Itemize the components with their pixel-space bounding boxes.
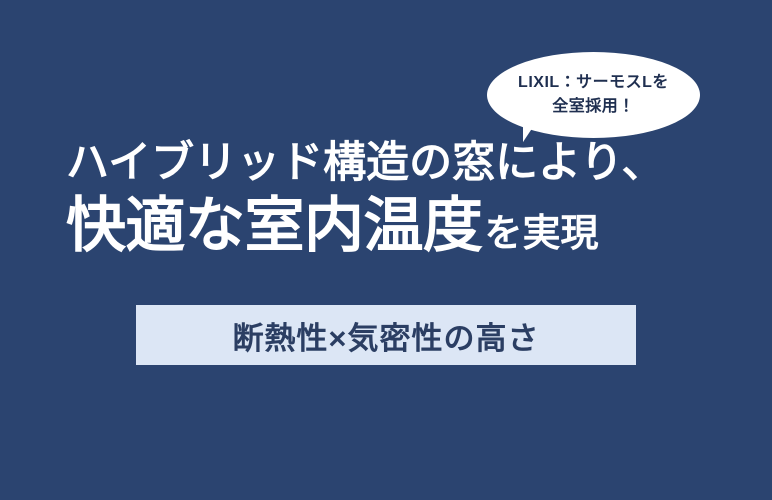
promo-banner: LIXIL：サーモスLを 全室採用！ ハイブリッド構造の窓により、 快適な室内温… [0,0,772,500]
headline-line-2: 快適な室内温度 を実現 [66,191,665,262]
subtitle-band-text: 断熱性×気密性の高さ [232,313,539,358]
headline-line-1: ハイブリッド構造の窓により、 [66,138,665,189]
speech-bubble-line-1: LIXIL：サーモスLを [518,72,669,94]
headline-emphasis-text: 快適な室内温度 [66,191,483,262]
speech-bubble-line-2: 全室採用！ [552,96,635,118]
headline-suffix-text: を実現 [485,212,599,257]
speech-bubble-text: LIXIL：サーモスLを 全室採用！ [487,52,700,138]
speech-bubble: LIXIL：サーモスLを 全室採用！ [487,52,700,138]
subtitle-band: 断熱性×気密性の高さ [136,305,636,365]
headline: ハイブリッド構造の窓により、 快適な室内温度 を実現 [66,138,665,262]
